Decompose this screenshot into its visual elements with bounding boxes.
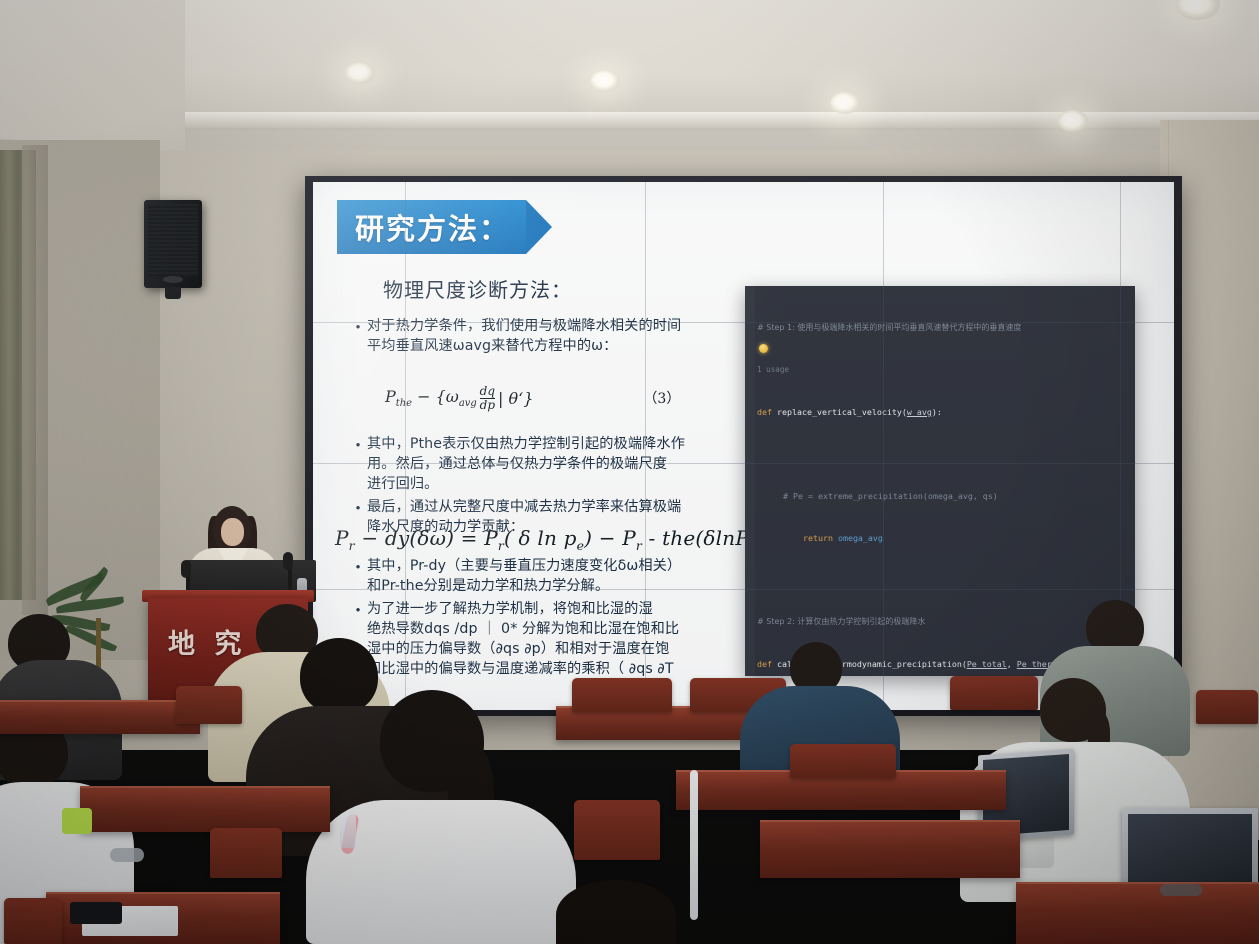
video-wall-screen[interactable]: 研究方法： 物理尺度诊断方法： • 对于热力学条件，我们使用与极端降水相关的时间… (313, 182, 1174, 710)
ceiling-downlight (1058, 110, 1088, 132)
bullet-marker: • (349, 556, 367, 596)
ide-gutter (745, 286, 755, 676)
chair-back (790, 744, 896, 778)
ceiling-soffit (150, 0, 1259, 120)
presentation-slide: 研究方法： 物理尺度诊断方法： • 对于热力学条件，我们使用与极端降水相关的时间… (313, 182, 1174, 710)
chair-back (4, 898, 62, 944)
desk-row-mid-2 (760, 820, 1020, 878)
chair-back (176, 686, 242, 724)
video-wall-seam (313, 589, 1174, 590)
code-line-blank (757, 573, 1131, 587)
slide-bullet-list-3: • 其中，Pr-dy（主要与垂直压力速度变化δω相关） 和Pr-the分别是动力… (349, 556, 769, 682)
slide-bullet-list-2: • 其中，Pthe表示仅由热力学控制引起的极端降水作 用。然后，通过总体与仅热力… (349, 434, 769, 540)
equation-3-number: （3） (643, 388, 680, 408)
speaker-grille (148, 204, 198, 276)
speaker-woofer (163, 276, 183, 283)
slide-title-box: 研究方法： (337, 200, 526, 254)
video-wall-seam (645, 182, 646, 710)
ide-code-panel[interactable]: # Step 1: 使用与极端降水相关的时间平均垂直风速替代方程中的垂直速度 1… (745, 286, 1135, 676)
smartphone[interactable] (70, 902, 122, 924)
wall-pillar (22, 145, 48, 615)
equation-3: Pthe − {ωavg dqdp | θ‘} （3） (385, 385, 680, 411)
code-line: # Pe = extreme_precipitation(omega_avg, … (757, 489, 1131, 503)
bullet-item: • 其中，Pthe表示仅由热力学控制引起的极端降水作 用。然后，通过总体与仅热力… (349, 434, 769, 494)
ceiling-downlight (590, 70, 620, 92)
video-wall-seam (405, 182, 406, 710)
lecture-hall-photo: 研究方法： 物理尺度诊断方法： • 对于热力学条件，我们使用与极端降水相关的时间… (0, 0, 1259, 944)
desk-row-left (0, 700, 200, 734)
slide-subtitle: 物理尺度诊断方法： (383, 274, 572, 303)
microphone-head (181, 560, 191, 578)
code-line: return omega_avg (757, 531, 1131, 545)
code-line: # Step 2: 计算仅由热力学控制引起的极端降水 (757, 615, 1131, 629)
speaker-mount (165, 287, 181, 299)
code-line: def replace_vertical_velocity(w_avg): (757, 405, 1131, 419)
chair-back (950, 676, 1038, 710)
bullet-text: 其中，Pthe表示仅由热力学控制引起的极端降水作 用。然后，通过总体与仅热力学条… (367, 434, 685, 494)
water-bottle (340, 814, 356, 848)
chair-back (210, 828, 282, 878)
desk-row-front-right (1016, 882, 1259, 944)
ide-code-text: # Step 1: 使用与极端降水相关的时间平均垂直风速替代方程中的垂直速度 1… (757, 293, 1131, 676)
ceiling-downlight (830, 92, 860, 114)
soffit-lip (150, 112, 1259, 128)
chair-back (574, 800, 660, 860)
desk-row-left-2 (80, 786, 330, 832)
bullet-text: 其中，Pr-dy（主要与垂直压力速度变化δω相关） 和Pr-the分别是动力学和… (367, 556, 681, 596)
keys (110, 848, 144, 862)
chair-back (572, 678, 672, 712)
code-line-blank (757, 447, 1131, 461)
video-wall-seam (883, 182, 884, 710)
title-arrow-icon (526, 200, 552, 254)
audience-head (556, 880, 676, 944)
video-wall-seam (313, 322, 1174, 323)
presenter-face (221, 518, 244, 546)
chair-back (1196, 690, 1258, 724)
eyeglasses (1160, 884, 1202, 896)
code-line: # Step 1: 使用与极端降水相关的时间平均垂直风速替代方程中的垂直速度 (757, 321, 1131, 335)
green-item (62, 808, 92, 834)
bullet-marker: • (349, 434, 367, 494)
fraction-dq-dp: dqdp (480, 385, 495, 411)
video-wall-seam (313, 463, 1174, 464)
bullet-item: • 为了进一步了解热力学机制，将饱和比湿的湿 绝热导数dqs /dp ｜ 0* … (349, 599, 769, 679)
podium-label: 地 究 (168, 622, 246, 661)
wall-speaker (144, 200, 202, 288)
slide-title-text: 研究方法： (355, 206, 510, 248)
microphone-head (283, 552, 293, 570)
code-line: 1 usage (757, 363, 1131, 377)
bullet-item: • 其中，Pr-dy（主要与垂直压力速度变化δω相关） 和Pr-the分别是动力… (349, 556, 769, 596)
slide-title-banner: 研究方法： (337, 200, 552, 254)
ceiling-downlight (345, 62, 375, 84)
bullet-text: 为了进一步了解热力学机制，将饱和比湿的湿 绝热导数dqs /dp ｜ 0* 分解… (367, 599, 679, 679)
charging-cable (690, 770, 698, 920)
audience-head (300, 638, 378, 714)
